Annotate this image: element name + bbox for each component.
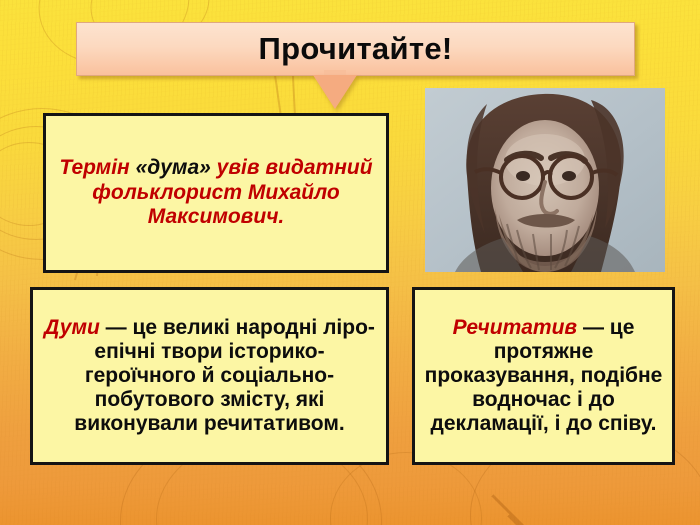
portrait-image: [425, 88, 665, 272]
card-dumy-accent: Думи: [44, 316, 100, 339]
page-title: Прочитайте!: [259, 31, 453, 67]
slide-canvas: Прочитайте!: [0, 0, 700, 525]
card-dumy-body: — це великі народні ліро-епічні твори іс…: [74, 316, 375, 435]
card-dumy-definition: Думи — це великі народні ліро-епічні тво…: [30, 287, 389, 465]
title-banner: Прочитайте!: [76, 22, 635, 76]
down-arrow-icon: [313, 75, 357, 109]
card-rech-text: Речитатив — це протяжне проказування, по…: [421, 316, 666, 436]
card-term-text: Термін «дума» увів видатний фольклорист …: [52, 156, 380, 229]
eye-right: [562, 171, 576, 181]
card-term-rest: увів видатний фольклорист Михайло Максим…: [92, 156, 372, 228]
card-rech-accent: Речитатив: [453, 316, 578, 339]
card-term-accent: Термін: [59, 156, 129, 179]
portrait-svg: [425, 88, 665, 272]
eye-left: [516, 171, 530, 181]
card-rechytatyv-definition: Речитатив — це протяжне проказування, по…: [412, 287, 675, 465]
card-term-quoted: «дума»: [136, 156, 211, 179]
card-term-definition: Термін «дума» увів видатний фольклорист …: [43, 113, 389, 273]
card-dumy-text: Думи — це великі народні ліро-епічні тво…: [39, 316, 380, 436]
